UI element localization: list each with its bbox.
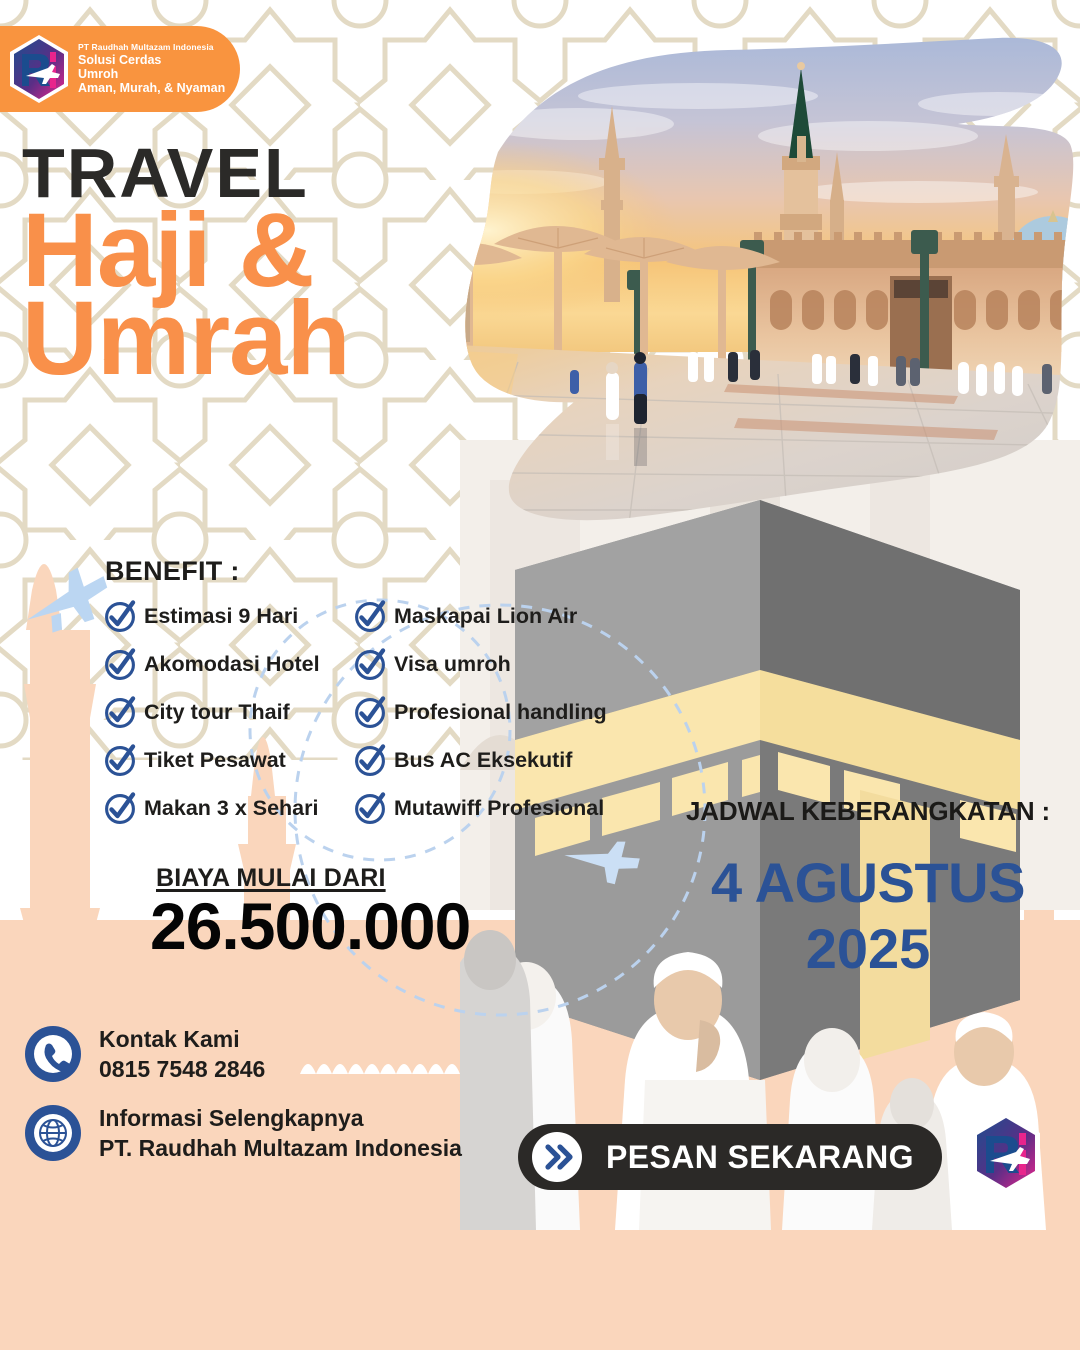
rmi-hexagon-logo-icon — [8, 34, 70, 104]
brand-tagline-1: Solusi Cerdas — [78, 53, 225, 67]
check-circle-icon — [353, 599, 387, 633]
list-item: Makan 3 x Sehari — [103, 791, 353, 825]
check-circle-icon — [103, 743, 137, 777]
list-item: Bus AC Eksekutif — [353, 743, 607, 777]
benefit-label: Makan 3 x Sehari — [144, 796, 318, 821]
benefit-label: Profesional handling — [394, 700, 607, 725]
check-circle-icon — [353, 791, 387, 825]
check-circle-icon — [353, 695, 387, 729]
rmi-hexagon-logo-icon — [970, 1112, 1042, 1194]
brand-logo-pill: PT Raudhah Multazam Indonesia Solusi Cer… — [0, 26, 240, 112]
check-circle-icon — [103, 599, 137, 633]
page-title: TRAVEL Haji & Umrah — [22, 140, 350, 383]
list-item: Visa umroh — [353, 647, 607, 681]
contact-info-company: PT. Raudhah Multazam Indonesia — [99, 1133, 462, 1163]
price-value: 26.500.000 — [150, 895, 470, 958]
airplane-icon — [560, 830, 640, 892]
masjid-nabawi-sunset-photo — [398, 32, 1080, 532]
double-chevron-right-icon — [532, 1132, 582, 1182]
order-now-button[interactable]: PESAN SEKARANG — [518, 1124, 942, 1190]
price-block: BIAYA MULAI DARI 26.500.000 — [150, 864, 470, 958]
list-item: Mutawiff Profesional — [353, 791, 607, 825]
list-item: Tiket Pesawat — [103, 743, 353, 777]
contact-phone-number: 0815 7548 2846 — [99, 1054, 265, 1084]
check-circle-icon — [103, 791, 137, 825]
schedule-title: JADWAL KEBERANGKATAN : — [668, 796, 1068, 827]
list-item: Estimasi 9 Hari — [103, 599, 353, 633]
contact-phone-title: Kontak Kami — [99, 1024, 265, 1054]
globe-icon — [24, 1104, 82, 1162]
schedule-date: 4 AGUSTUS — [668, 853, 1068, 913]
phone-icon — [24, 1025, 82, 1083]
list-item: Maskapai Lion Air — [353, 599, 607, 633]
benefit-label: Estimasi 9 Hari — [144, 604, 298, 629]
benefit-label: Bus AC Eksekutif — [394, 748, 572, 773]
poster-canvas: PT Raudhah Multazam Indonesia Solusi Cer… — [0, 0, 1080, 1350]
benefit-title: BENEFIT : — [105, 556, 607, 587]
benefit-label: City tour Thaif — [144, 700, 290, 725]
benefit-label: Akomodasi Hotel — [144, 652, 320, 677]
headline-umrah: Umrah — [22, 295, 350, 383]
airplane-icon — [18, 565, 114, 641]
brand-tagline-2: Umroh — [78, 67, 225, 81]
brand-company-line: PT Raudhah Multazam Indonesia — [78, 43, 225, 53]
check-circle-icon — [353, 743, 387, 777]
benefit-label: Maskapai Lion Air — [394, 604, 577, 629]
benefit-section: BENEFIT : Estimasi 9 Hari Akomodasi Hote… — [103, 556, 607, 825]
schedule-year: 2025 — [668, 919, 1068, 979]
benefit-column-right: Maskapai Lion Air Visa umroh Profesional… — [353, 599, 607, 825]
benefit-label: Tiket Pesawat — [144, 748, 286, 773]
check-circle-icon — [353, 647, 387, 681]
check-circle-icon — [103, 647, 137, 681]
brand-tagline-3: Aman, Murah, & Nyaman — [78, 81, 225, 95]
departure-schedule: JADWAL KEBERANGKATAN : 4 AGUSTUS 2025 — [668, 796, 1068, 980]
benefit-label: Visa umroh — [394, 652, 511, 677]
benefit-column-left: Estimasi 9 Hari Akomodasi Hotel City tou… — [103, 599, 353, 825]
order-now-label: PESAN SEKARANG — [606, 1139, 914, 1176]
benefit-label: Mutawiff Profesional — [394, 796, 604, 821]
contact-phone-row[interactable]: Kontak Kami 0815 7548 2846 — [24, 1024, 462, 1085]
contact-info-title: Informasi Selengkapnya — [99, 1103, 462, 1133]
list-item: Akomodasi Hotel — [103, 647, 353, 681]
contact-section: Kontak Kami 0815 7548 2846 Informasi Sel… — [24, 1024, 462, 1181]
list-item: Profesional handling — [353, 695, 607, 729]
contact-info-row[interactable]: Informasi Selengkapnya PT. Raudhah Multa… — [24, 1103, 462, 1164]
list-item: City tour Thaif — [103, 695, 353, 729]
check-circle-icon — [103, 695, 137, 729]
